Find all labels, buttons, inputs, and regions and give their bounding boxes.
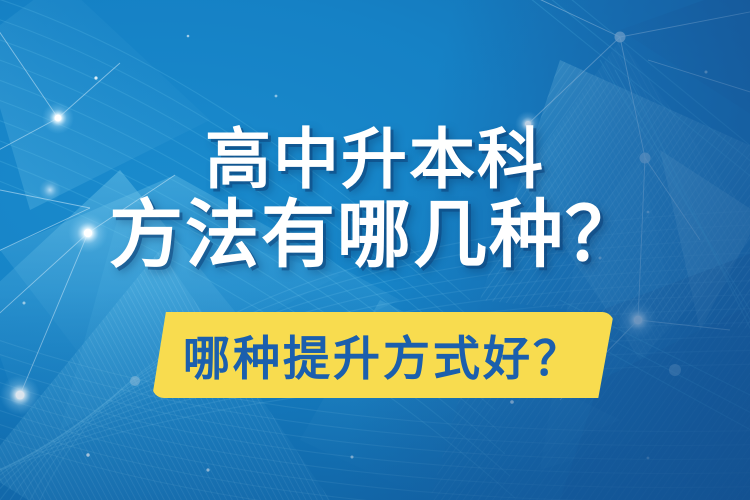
- headline-block: 高中升本科 方法有哪几种？: [0, 126, 750, 273]
- headline-line-2: 方法有哪几种？: [0, 197, 750, 272]
- promo-banner: 高中升本科 方法有哪几种？ 哪种提升方式好？: [0, 0, 750, 500]
- banner-content: 高中升本科 方法有哪几种？ 哪种提升方式好？: [0, 0, 750, 500]
- ribbon-text: 哪种提升方式好？: [152, 312, 614, 398]
- headline-line-1: 高中升本科: [0, 126, 750, 193]
- subtitle-ribbon: 哪种提升方式好？: [152, 312, 614, 398]
